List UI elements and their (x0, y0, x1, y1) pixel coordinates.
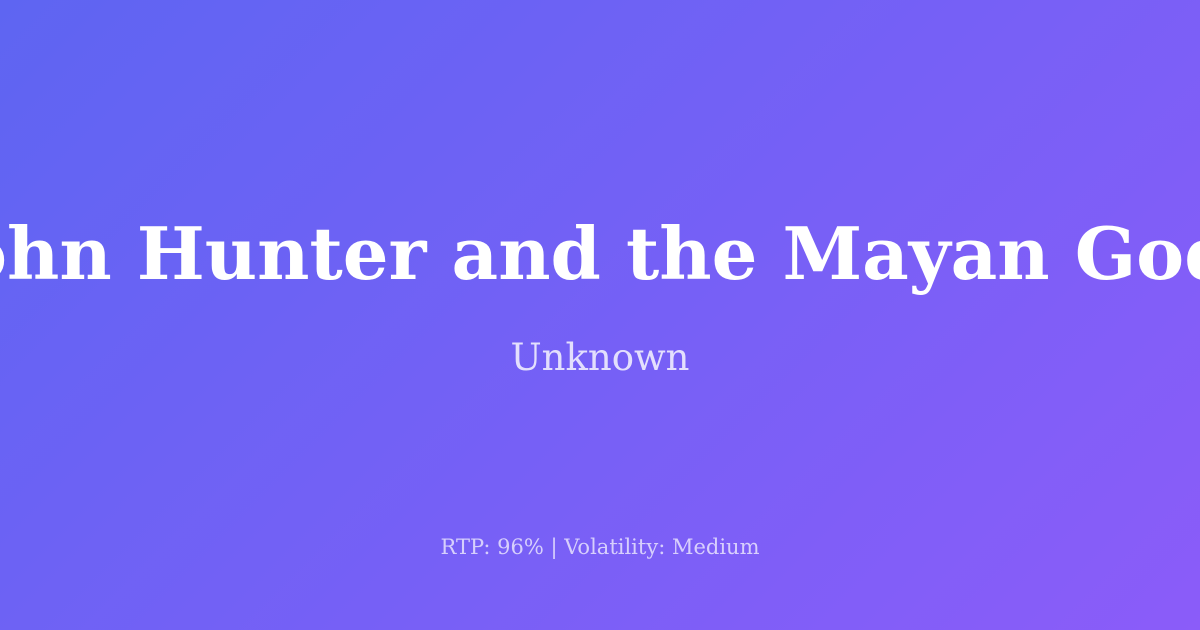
game-title: John Hunter and the Mayan Gods (0, 216, 1200, 292)
social-preview-card: John Hunter and the Mayan Gods Unknown R… (0, 0, 1200, 630)
card-hero-block: John Hunter and the Mayan Gods Unknown (0, 216, 1200, 380)
game-stats-meta: RTP: 96% | Volatility: Medium (0, 535, 1200, 560)
game-provider-subtitle: Unknown (510, 336, 689, 380)
